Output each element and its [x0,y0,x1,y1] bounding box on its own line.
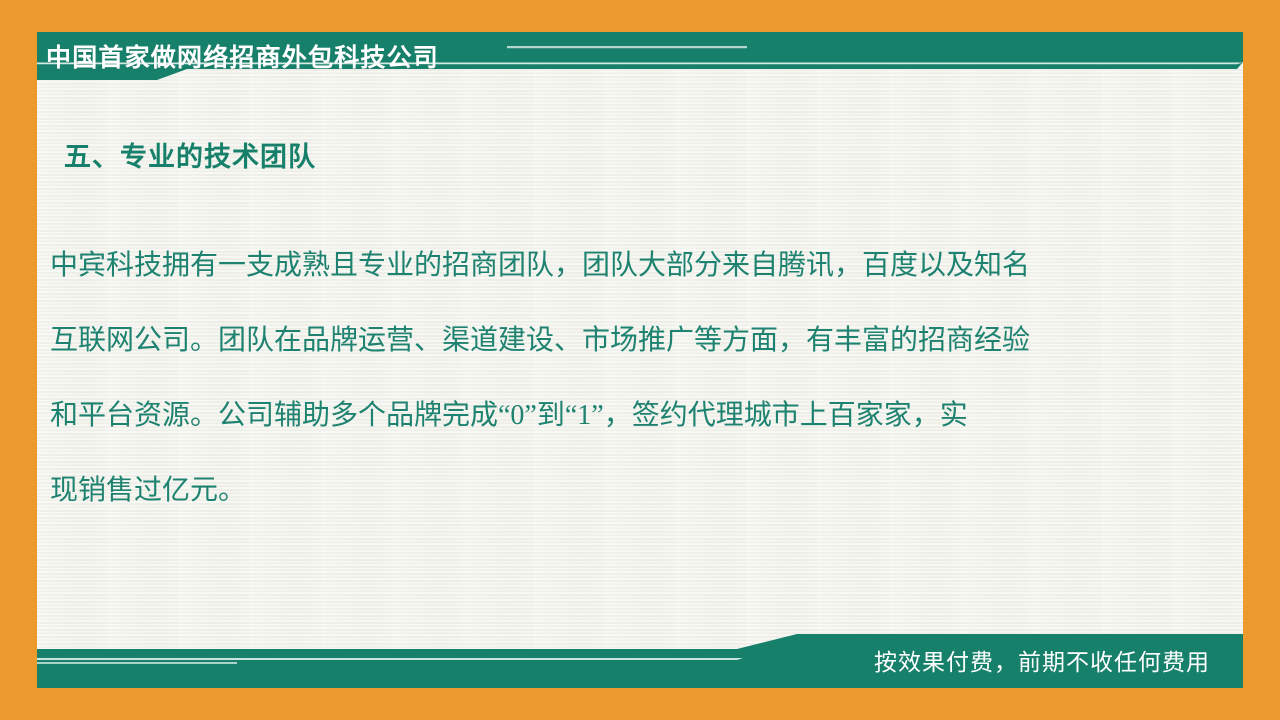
paragraph-line: 现销售过亿元。 [50,453,1190,528]
slide-canvas: 五、专业的技术团队 中宾科技拥有一支成熟且专业的招商团队，团队大部分来自腾讯，百… [0,0,1280,720]
paragraph-line: 和平台资源。公司辅助多个品牌完成“0”到“1”，签约代理城市上百家家，实 [50,378,1190,453]
slide-paper-background: 五、专业的技术团队 中宾科技拥有一支成熟且专业的招商团队，团队大部分来自腾讯，百… [37,32,1243,688]
slide-content: 五、专业的技术团队 中宾科技拥有一支成熟且专业的招商团队，团队大部分来自腾讯，百… [37,32,1243,688]
body-paragraph: 中宾科技拥有一支成熟且专业的招商团队，团队大部分来自腾讯，百度以及知名 互联网公… [50,228,1190,528]
paragraph-line: 中宾科技拥有一支成熟且专业的招商团队，团队大部分来自腾讯，百度以及知名 [50,228,1190,303]
section-heading: 五、专业的技术团队 [64,135,316,174]
paragraph-line: 互联网公司。团队在品牌运营、渠道建设、市场推广等方面，有丰富的招商经验 [50,303,1190,378]
